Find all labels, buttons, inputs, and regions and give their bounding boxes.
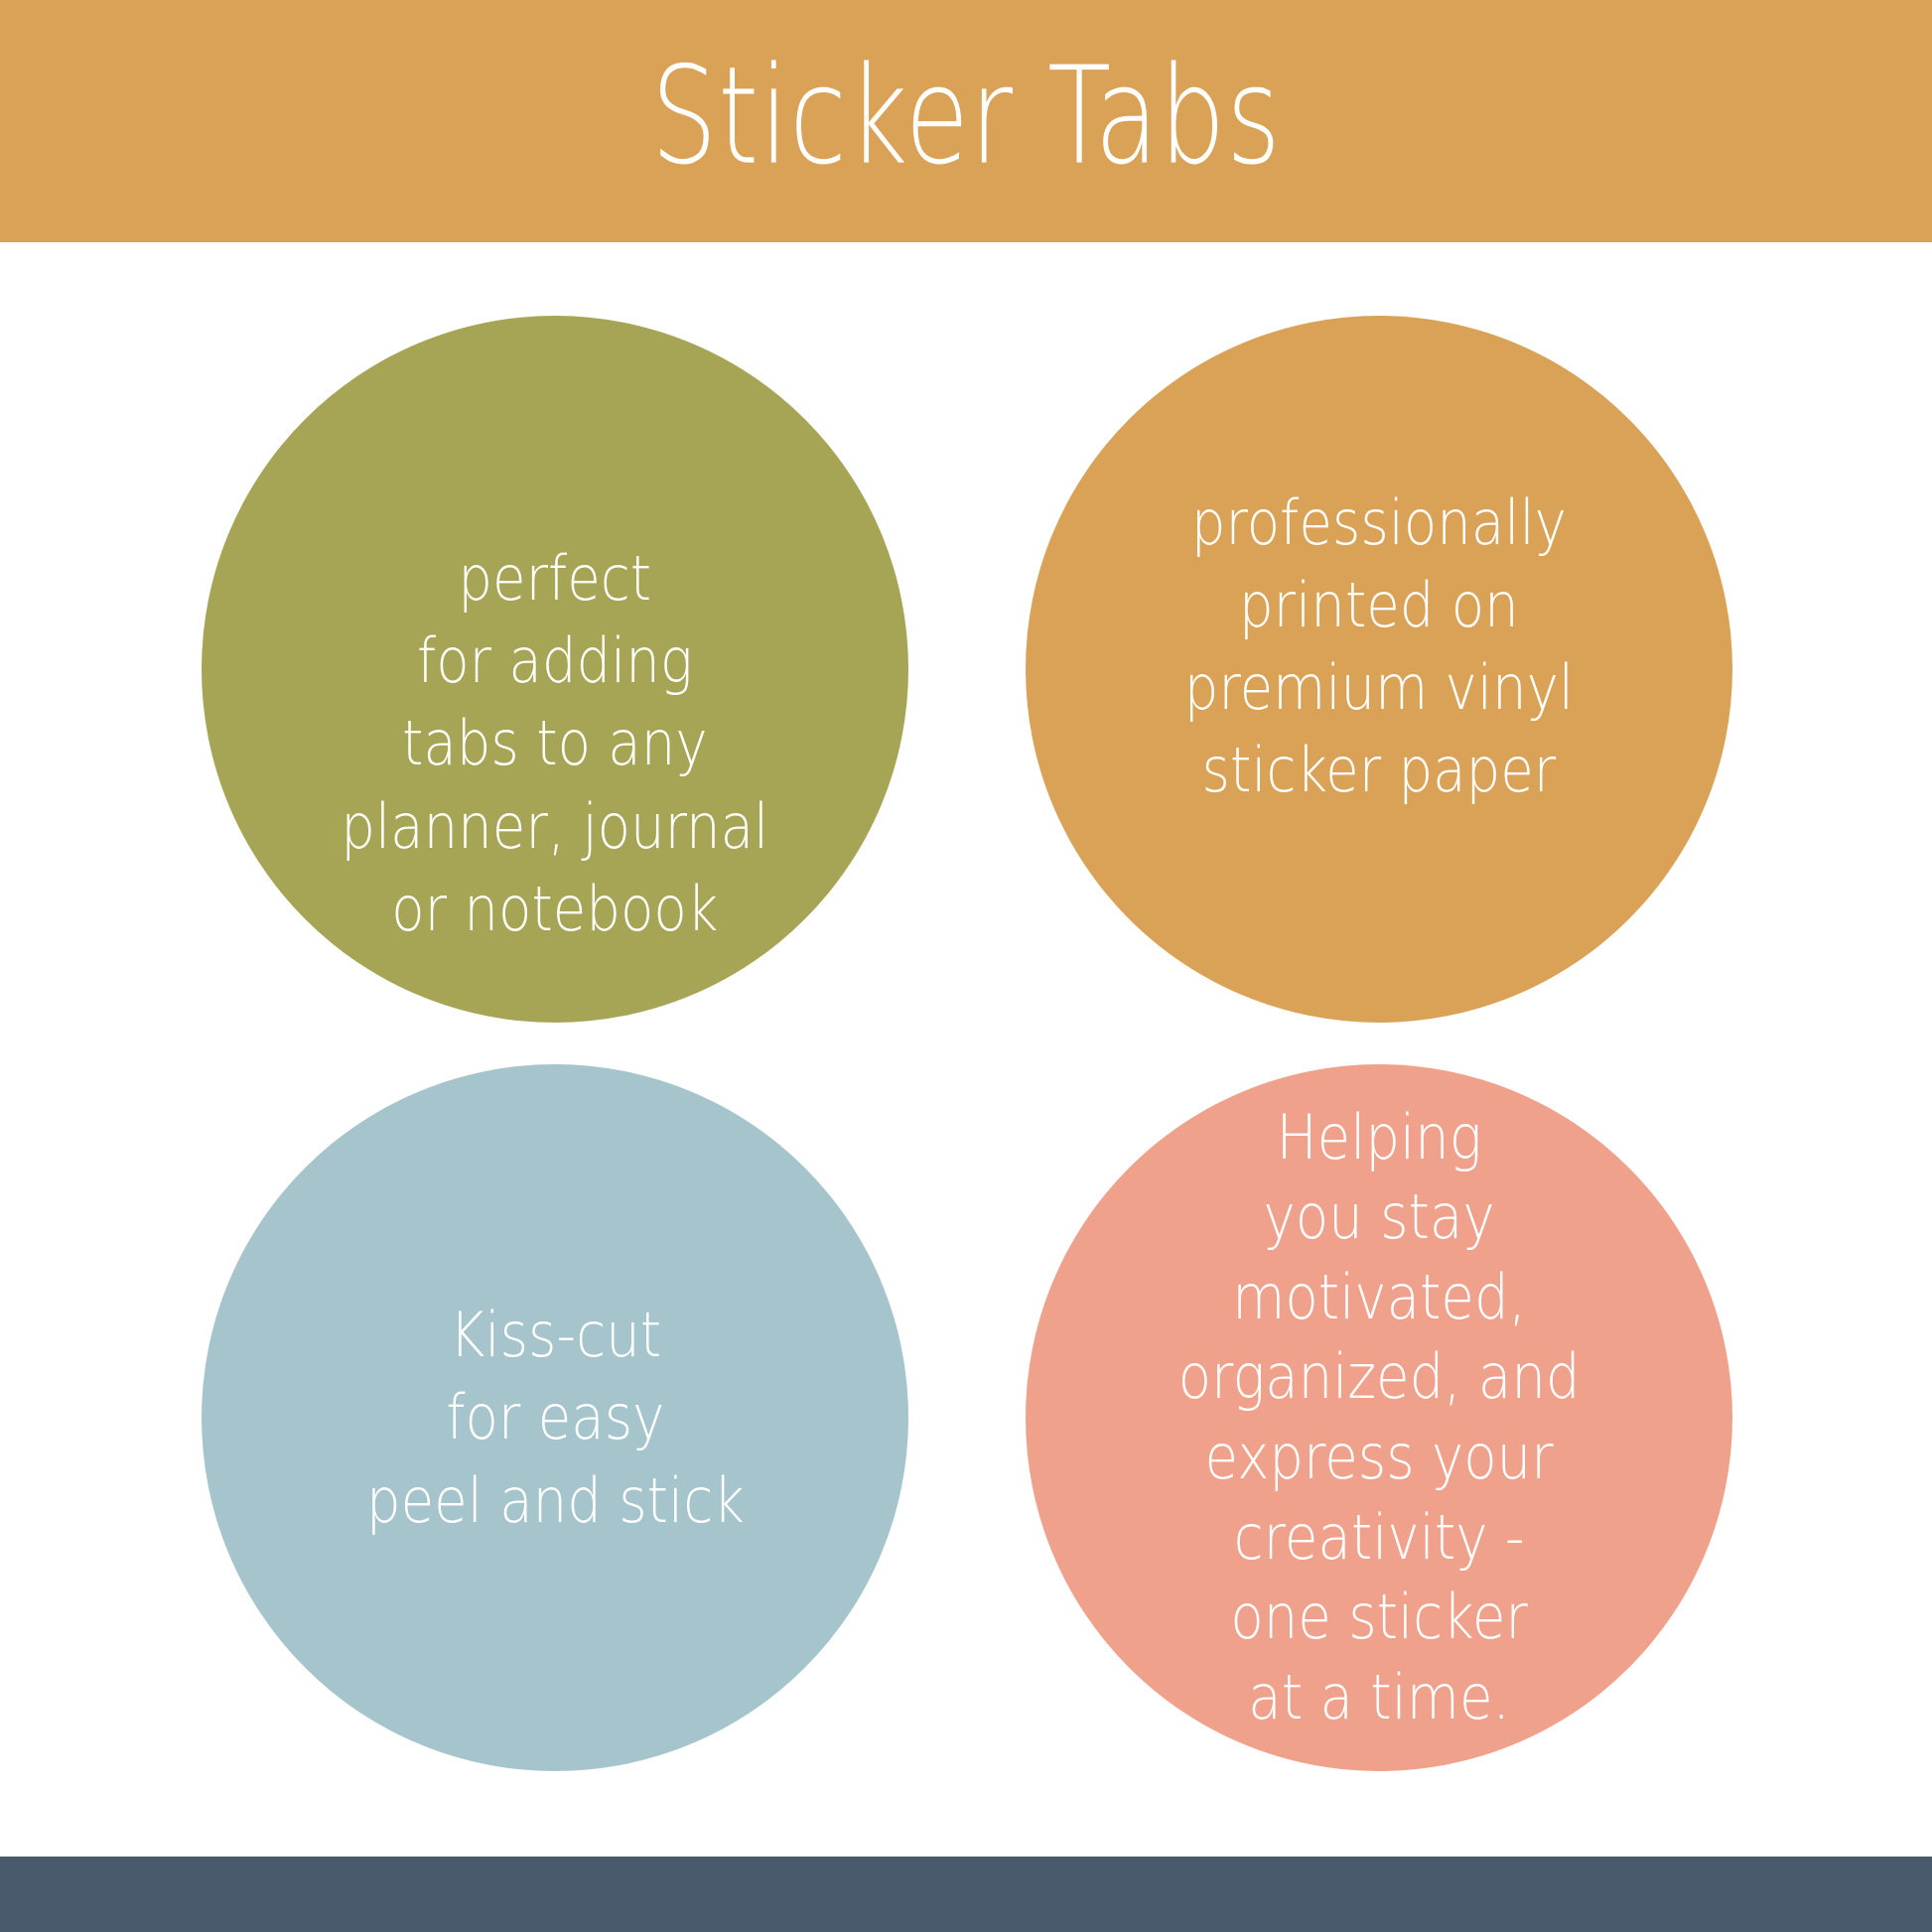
feature-circle-kiss-cut: Kiss-cut for easy peel and stick bbox=[202, 1064, 908, 1771]
page-title: Sticker Tabs bbox=[651, 50, 1282, 185]
feature-circle-perfect-for-adding: perfect for adding tabs to any planner, … bbox=[202, 316, 908, 1023]
feature-text-professionally-printed: professionally printed on premium vinyl … bbox=[1160, 482, 1598, 857]
header-bar: Sticker Tabs bbox=[0, 0, 1932, 242]
feature-circle-professionally-printed: professionally printed on premium vinyl … bbox=[1026, 316, 1732, 1023]
feature-text-kiss-cut: Kiss-cut for easy peel and stick bbox=[342, 1294, 768, 1541]
sticker-tabs-infographic: Sticker Tabs perfect for adding tabs to … bbox=[0, 0, 1932, 1932]
feature-text-perfect-for-adding: perfect for adding tabs to any planner, … bbox=[317, 388, 793, 949]
footer-bar bbox=[0, 1857, 1932, 1932]
feature-text-helping-you-stay: Helping you stay motivated, organized, a… bbox=[1154, 1098, 1604, 1738]
feature-circle-helping-you-stay: Helping you stay motivated, organized, a… bbox=[1026, 1064, 1732, 1771]
